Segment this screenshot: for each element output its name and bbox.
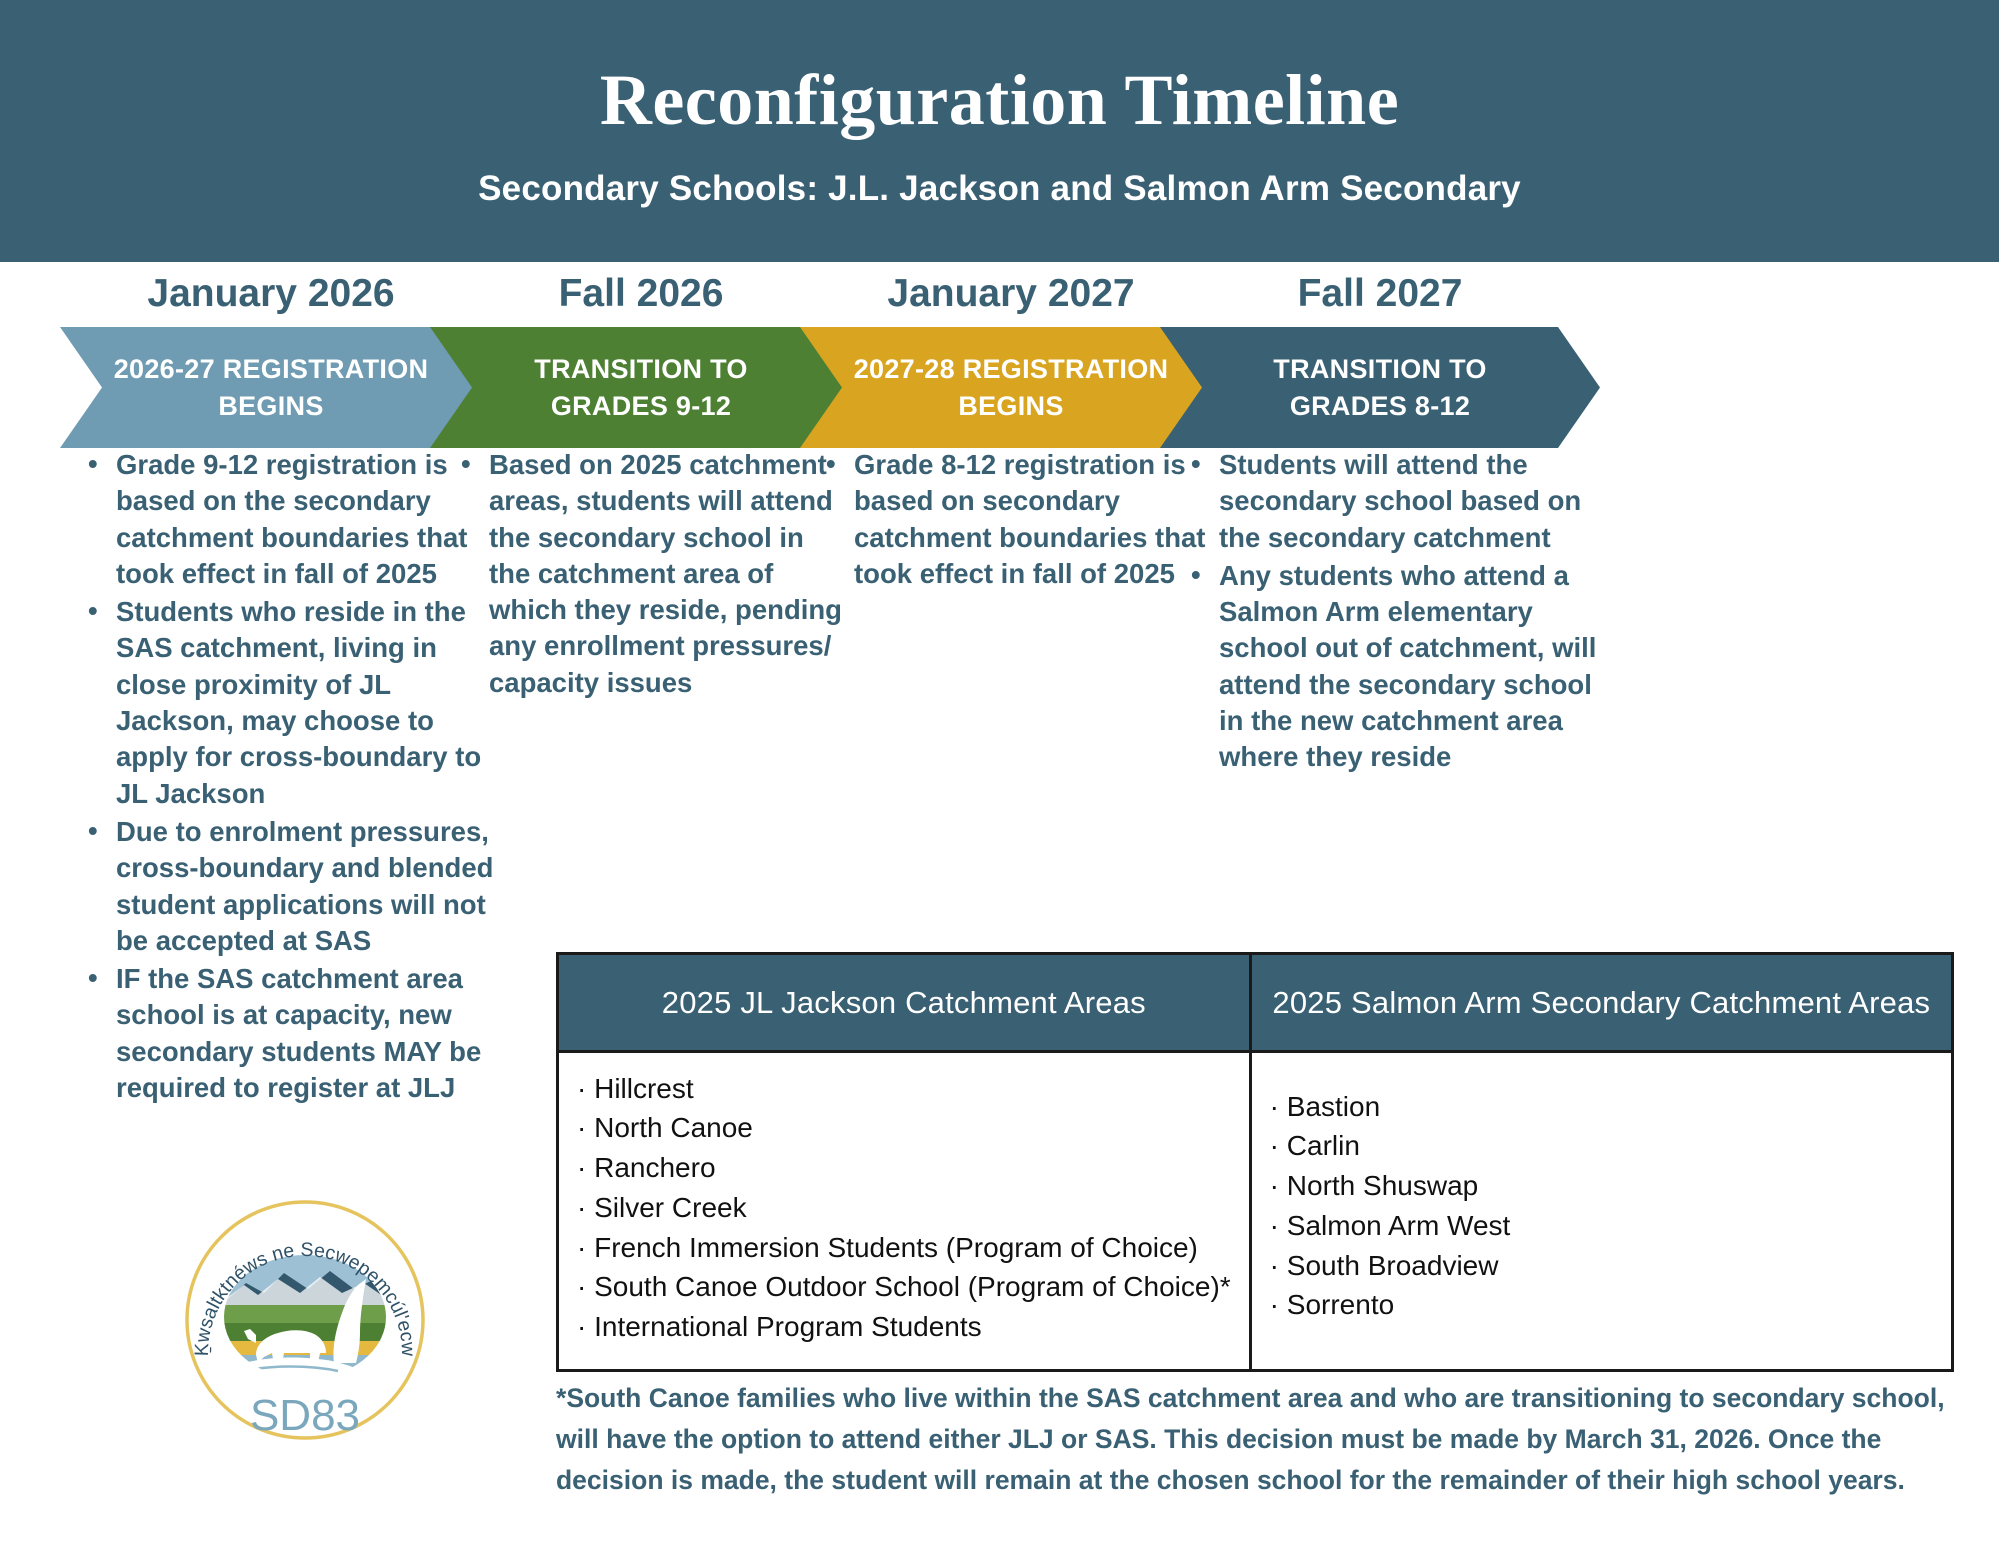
timeline-chevron-label-january-2027: 2027-28 REGISTRATION BEGINS (808, 351, 1215, 424)
bullet-column-january-2027: Grade 8-12 registration is based on seco… (820, 447, 1220, 594)
timeline-column-fall-2026: Fall 2026 TRANSITION TO GRADES 9-12 (430, 262, 852, 448)
list-item: · French Immersion Students (Program of … (577, 1228, 1231, 1268)
list-item: · Salmon Arm West (1270, 1206, 1933, 1246)
list-item: · Sorrento (1270, 1286, 1933, 1326)
timeline-column-january-2027: January 2027 2027-28 REGISTRATION BEGINS (800, 262, 1222, 448)
jl-jackson-area-list: · Hillcrest · North Canoe · Ranchero · S… (577, 1069, 1231, 1347)
bullet-list-january-2027: Grade 8-12 registration is based on seco… (820, 447, 1220, 592)
list-item: · International Program Students (577, 1308, 1231, 1348)
table-cell-salmon-arm-areas: · Bastion · Carlin · North Shuswap · Sal… (1250, 1052, 1952, 1371)
list-item: · Ranchero (577, 1149, 1231, 1189)
catchment-areas-table: 2025 JL Jackson Catchment Areas 2025 Sal… (556, 952, 1954, 1372)
bullet-list-fall-2026: Based on 2025 catchment areas, students … (455, 447, 845, 701)
timeline-column-fall-2027: Fall 2027 TRANSITION TO GRADES 8-12 (1160, 262, 1600, 448)
bullet-column-fall-2027: Students will attend the secondary schoo… (1185, 447, 1605, 778)
bullet-list-january-2026: Grade 9-12 registration is based on the … (82, 447, 512, 1106)
bullet-column-january-2026: Grade 9-12 registration is based on the … (82, 447, 512, 1108)
table-cell-jl-jackson-areas: · Hillcrest · North Canoe · Ranchero · S… (558, 1052, 1251, 1371)
table-header-salmon-arm: 2025 Salmon Arm Secondary Catchment Area… (1250, 954, 1952, 1052)
footnote-text: *South Canoe families who live within th… (556, 1378, 1956, 1501)
timeline-chevron-label-fall-2027: TRANSITION TO GRADES 8-12 (1227, 351, 1532, 424)
sd83-logo-svg: Ḵwsaltktnéws ne Secwepemcúl'ecw SD83 (160, 1195, 450, 1450)
list-item: Any students who attend a Salmon Arm ele… (1185, 558, 1605, 776)
table-row: · Hillcrest · North Canoe · Ranchero · S… (558, 1052, 1953, 1371)
timeline-chevron-january-2027: 2027-28 REGISTRATION BEGINS (800, 327, 1222, 448)
list-item: Grade 8-12 registration is based on seco… (820, 447, 1220, 592)
list-item: Grade 9-12 registration is based on the … (82, 447, 512, 592)
list-item: Students will attend the secondary schoo… (1185, 447, 1605, 556)
timeline-date-january-2027: January 2027 (800, 262, 1222, 313)
list-item: · South Canoe Outdoor School (Program of… (577, 1268, 1231, 1308)
list-item: · Silver Creek (577, 1188, 1231, 1228)
bullet-column-fall-2026: Based on 2025 catchment areas, students … (455, 447, 845, 703)
logo-district-code: SD83 (250, 1391, 360, 1440)
list-item: Due to enrolment pressures, cross-bounda… (82, 814, 512, 959)
timeline-chevron-january-2026: 2026-27 REGISTRATION BEGINS (60, 327, 482, 448)
bullet-list-fall-2027: Students will attend the secondary schoo… (1185, 447, 1605, 776)
table-header-jl-jackson: 2025 JL Jackson Catchment Areas (558, 954, 1251, 1052)
list-item: · North Canoe (577, 1109, 1231, 1149)
salmon-arm-area-list: · Bastion · Carlin · North Shuswap · Sal… (1270, 1087, 1933, 1326)
list-item: · Bastion (1270, 1087, 1933, 1127)
timeline-chevron-fall-2027: TRANSITION TO GRADES 8-12 (1160, 327, 1600, 448)
table-header-row: 2025 JL Jackson Catchment Areas 2025 Sal… (558, 954, 1953, 1052)
page-header: Reconfiguration Timeline Secondary Schoo… (0, 0, 1999, 262)
page-subtitle: Secondary Schools: J.L. Jackson and Salm… (478, 169, 1521, 209)
infographic-page: Reconfiguration Timeline Secondary Schoo… (0, 0, 1999, 1545)
list-item: IF the SAS catchment area school is at c… (82, 961, 512, 1106)
timeline-chevron-label-fall-2026: TRANSITION TO GRADES 9-12 (488, 351, 793, 424)
list-item: · Carlin (1270, 1127, 1933, 1167)
timeline-date-january-2026: January 2026 (60, 262, 482, 313)
timeline-chevron-fall-2026: TRANSITION TO GRADES 9-12 (430, 327, 852, 448)
list-item: Based on 2025 catchment areas, students … (455, 447, 845, 701)
timeline-banner-row: January 2026 2026-27 REGISTRATION BEGINS… (0, 262, 1999, 447)
sd83-logo: Ḵwsaltktnéws ne Secwepemcúl'ecw SD83 (160, 1195, 450, 1450)
timeline-column-january-2026: January 2026 2026-27 REGISTRATION BEGINS (60, 262, 482, 448)
timeline-date-fall-2026: Fall 2026 (430, 262, 852, 313)
page-title: Reconfiguration Timeline (600, 63, 1399, 139)
list-item: · South Broadview (1270, 1246, 1933, 1286)
timeline-date-fall-2027: Fall 2027 (1160, 262, 1600, 313)
list-item: Students who reside in the SAS catchment… (82, 594, 512, 812)
list-item: · North Shuswap (1270, 1167, 1933, 1207)
timeline-chevron-label-january-2026: 2026-27 REGISTRATION BEGINS (68, 351, 475, 424)
list-item: · Hillcrest (577, 1069, 1231, 1109)
